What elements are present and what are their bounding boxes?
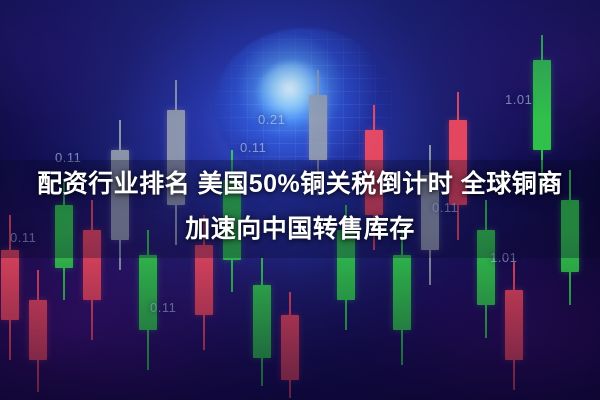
price-label: 0.11	[240, 140, 266, 155]
headline-text: 配资行业排名 美国50%铜关税倒计时 全球铜商 加速向中国转售库存	[0, 162, 600, 252]
headline-line-1: 配资行业排名 美国50%铜关税倒计时 全球铜商	[37, 170, 562, 198]
price-label: 0.21	[258, 112, 285, 127]
price-label: 1.01	[505, 92, 532, 107]
price-label: 0.11	[150, 300, 176, 315]
headline-line-2: 加速向中国转售库存	[6, 207, 594, 252]
news-thumbnail-image: 0.110.210.110.111.010.111.010.11 配资行业排名 …	[0, 0, 600, 400]
